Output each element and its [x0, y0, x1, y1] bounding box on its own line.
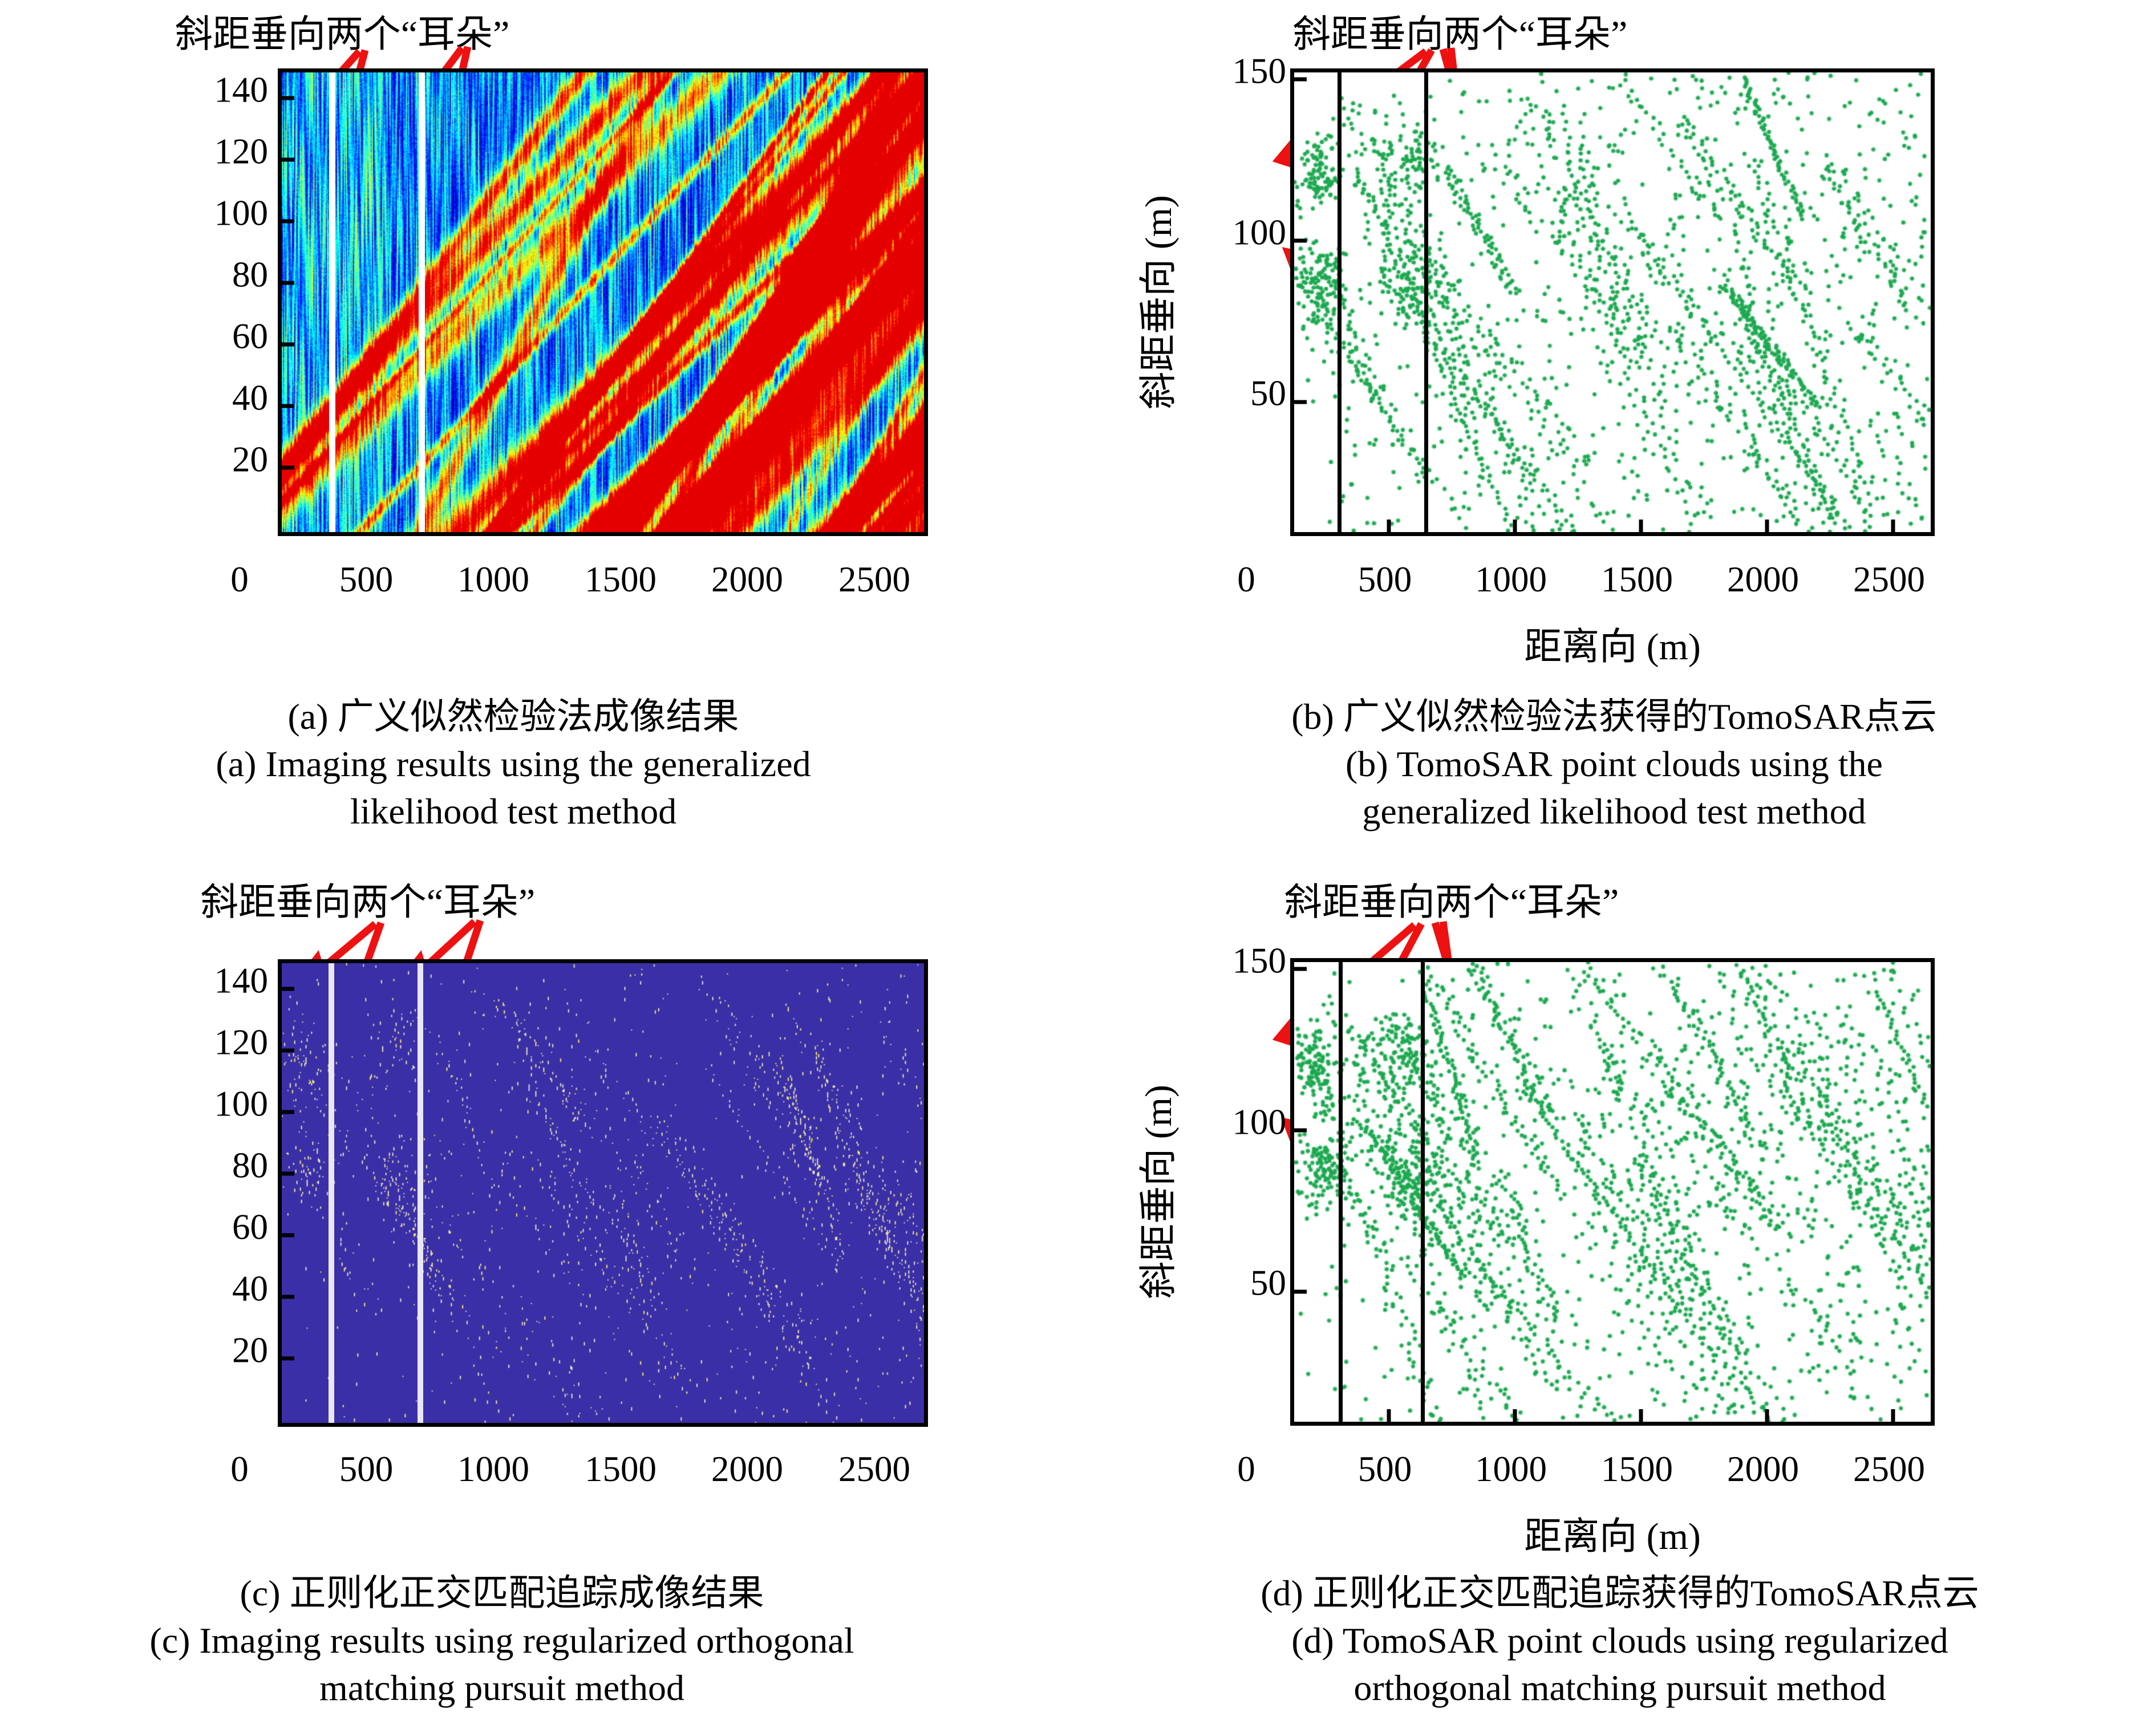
panel-d-yaxis-title: 斜距垂向 (m) [1128, 1085, 1182, 1299]
ytick-mark [282, 1234, 294, 1238]
xtick-label: 1000 [1475, 562, 1547, 598]
xtick-label: 2500 [838, 562, 910, 598]
xtick-mark [1765, 520, 1769, 532]
xtick-mark [1639, 1409, 1643, 1422]
xtick-label: 1500 [585, 1451, 656, 1487]
reference-line-right [1421, 962, 1425, 1422]
panel-a-plot-area [278, 68, 928, 536]
panel-a: 斜距垂向两个“耳朵” 140 120 100 80 60 40 20 [0, 0, 1027, 833]
panel-c-yaxis-ticklabels: 140 120 100 80 60 40 20 [188, 867, 268, 1437]
xtick-mark [1513, 1409, 1517, 1422]
xtick-label: 2500 [1853, 562, 1925, 598]
panel-b-caption-en-line1: (b) TomoSAR point clouds using the [1158, 740, 2070, 788]
ytick-label: 40 [232, 1271, 268, 1307]
panel-a-caption-en-line2: likelihood test method [86, 788, 941, 835]
ytick-mark [1294, 239, 1307, 243]
ytick-mark [282, 987, 294, 991]
panel-c-xaxis-ticklabels: 0 500 1000 1500 2000 2500 [0, 1451, 1027, 1503]
ytick-label: 80 [232, 257, 268, 293]
ytick-label: 100 [1233, 215, 1287, 251]
ytick-mark [1294, 1290, 1307, 1294]
xtick-mark [1765, 1409, 1769, 1422]
ytick-label: 20 [232, 1333, 268, 1369]
panel-d-scatter-layer [1294, 962, 1931, 1422]
ytick-label: 20 [232, 442, 268, 478]
ytick-label: 100 [1233, 1105, 1287, 1141]
ytick-mark [1294, 400, 1307, 404]
xtick-label: 1500 [1601, 1451, 1673, 1487]
panel-d: 斜距垂向两个“耳朵” 斜距垂向 (m) 150 100 50 [1027, 867, 2156, 1699]
ytick-label: 60 [232, 319, 268, 355]
ytick-mark [282, 1049, 294, 1053]
xtick-label: 2000 [711, 562, 783, 598]
panel-d-yaxis-ticklabels: 150 100 50 [1198, 867, 1286, 1460]
xtick-label: 0 [230, 1451, 249, 1487]
xtick-label: 2000 [1727, 562, 1799, 598]
xtick-mark [1891, 520, 1895, 532]
panel-b-plot-area [1290, 68, 1935, 536]
ytick-mark [282, 220, 294, 224]
panel-a-heatmap-image [282, 72, 924, 532]
panel-d-scatter-canvas [1294, 962, 1931, 1422]
xtick-label: 2500 [1853, 1451, 1925, 1487]
xtick-label: 1500 [1601, 562, 1673, 598]
panel-b-xaxis-ticklabels: 0 500 1000 1500 2000 2500 [1027, 562, 2156, 613]
panel-a-caption-cn: (a) 广义似然检验法成像结果 [86, 693, 941, 740]
ytick-label: 150 [1233, 943, 1287, 979]
panel-c-caption-cn: (c) 正则化正交匹配追踪成像结果 [40, 1569, 964, 1617]
ytick-label: 80 [232, 1148, 268, 1184]
ytick-mark [282, 1110, 294, 1114]
ytick-label: 120 [214, 1025, 269, 1061]
ytick-mark [282, 1172, 294, 1176]
ytick-mark [282, 1357, 294, 1361]
panel-c: 斜距垂向两个“耳朵” 140 120 100 80 60 40 20 [0, 867, 1027, 1699]
xtick-label: 1000 [457, 1451, 529, 1487]
ytick-label: 100 [214, 1086, 269, 1122]
ytick-label: 40 [232, 380, 268, 416]
panel-d-annotation-label: 斜距垂向两个“耳朵” [1284, 871, 1619, 926]
ytick-label: 120 [214, 134, 269, 170]
panel-b-caption-en-line2: generalized likelihood test method [1158, 788, 2070, 835]
panel-c-plot-area [278, 959, 928, 1427]
ytick-label: 150 [1233, 54, 1287, 90]
panel-d-caption-cn: (d) 正则化正交匹配追踪获得的TomoSAR点云 [1118, 1569, 2122, 1617]
panel-b-caption: (b) 广义似然检验法获得的TomoSAR点云 (b) TomoSAR poin… [1158, 693, 2070, 835]
panel-d-caption-en-line1: (d) TomoSAR point clouds using regulariz… [1118, 1617, 2122, 1664]
xtick-mark [1513, 520, 1517, 532]
xtick-label: 0 [1237, 1451, 1255, 1487]
panel-c-heatmap-canvas [282, 963, 924, 1423]
panel-b-yaxis-title: 斜距垂向 (m) [1128, 195, 1182, 409]
ytick-mark [282, 404, 294, 408]
reference-line-left [1339, 962, 1343, 1422]
xtick-label: 500 [1358, 1451, 1412, 1487]
xtick-label: 0 [230, 562, 249, 598]
xtick-label: 500 [1358, 562, 1412, 598]
reference-line-right [418, 963, 423, 1423]
ytick-mark [282, 96, 294, 100]
xtick-label: 1000 [457, 562, 529, 598]
xtick-mark [1387, 520, 1391, 532]
panel-a-heatmap-canvas [282, 72, 924, 532]
panel-a-xaxis-ticklabels: 0 500 1000 1500 2000 2500 [0, 562, 1027, 613]
xtick-mark [1891, 1409, 1895, 1422]
panel-a-caption-en-line1: (a) Imaging results using the generalize… [86, 740, 941, 788]
reference-line-left [329, 72, 335, 532]
panel-d-caption: (d) 正则化正交匹配追踪获得的TomoSAR点云 (d) TomoSAR po… [1118, 1569, 2122, 1712]
panel-a-yaxis-ticklabels: 140 120 100 80 60 40 20 [188, 0, 268, 547]
reference-line-left [1338, 72, 1342, 532]
reference-line-right [1424, 72, 1428, 532]
panel-b-annotation-label: 斜距垂向两个“耳朵” [1293, 3, 1628, 58]
xtick-label: 0 [1237, 562, 1255, 598]
ytick-label: 140 [214, 963, 269, 999]
xtick-label: 1000 [1475, 1451, 1547, 1487]
xtick-mark [1639, 520, 1643, 532]
ytick-mark [282, 281, 294, 285]
panel-b: 斜距垂向两个“耳朵” 斜距垂向 (m) 150 100 50 [1027, 0, 2156, 833]
ytick-mark [282, 343, 294, 347]
xtick-label: 2000 [1727, 1451, 1799, 1487]
panel-b-xaxis-title: 距离向 (m) [1524, 616, 1701, 671]
ytick-label: 50 [1250, 1265, 1286, 1301]
ytick-mark [282, 466, 294, 470]
ytick-label: 50 [1250, 376, 1286, 412]
panel-d-xaxis-ticklabels: 0 500 1000 1500 2000 2500 [1027, 1451, 2156, 1503]
xtick-label: 1500 [585, 562, 656, 598]
panel-c-caption-en-line1: (c) Imaging results using regularized or… [40, 1617, 964, 1664]
panel-b-scatter-layer [1294, 72, 1931, 532]
panel-c-caption-en-line2: matching pursuit method [40, 1664, 964, 1711]
xtick-label: 500 [339, 562, 394, 598]
ytick-mark [1294, 967, 1307, 971]
xtick-label: 2500 [838, 1451, 910, 1487]
panel-b-scatter-canvas [1294, 72, 1931, 532]
ytick-label: 60 [232, 1210, 268, 1246]
ytick-mark [1294, 78, 1307, 82]
ytick-mark [282, 1295, 294, 1299]
panel-b-caption-cn: (b) 广义似然检验法获得的TomoSAR点云 [1158, 693, 2070, 740]
panel-b-yaxis-ticklabels: 150 100 50 [1198, 0, 1286, 570]
ytick-label: 100 [214, 196, 269, 232]
xtick-label: 500 [339, 1451, 394, 1487]
ytick-mark [1294, 1129, 1307, 1133]
reference-line-right [419, 72, 425, 532]
panel-d-plot-area [1290, 958, 1935, 1426]
xtick-mark [1387, 1409, 1391, 1422]
ytick-label: 140 [214, 72, 269, 108]
panel-c-heatmap-image [282, 963, 924, 1423]
figure-root: 斜距垂向两个“耳朵” 140 120 100 80 60 40 20 [0, 0, 2156, 1699]
xtick-label: 2000 [711, 1451, 783, 1487]
panel-d-xaxis-title: 距离向 (m) [1524, 1506, 1701, 1560]
reference-line-left [329, 963, 334, 1423]
panel-c-caption: (c) 正则化正交匹配追踪成像结果 (c) Imaging results us… [40, 1569, 964, 1712]
ytick-mark [282, 158, 294, 162]
panel-d-caption-en-line2: orthogonal matching pursuit method [1118, 1664, 2122, 1711]
panel-a-caption: (a) 广义似然检验法成像结果 (a) Imaging results usin… [86, 693, 941, 835]
